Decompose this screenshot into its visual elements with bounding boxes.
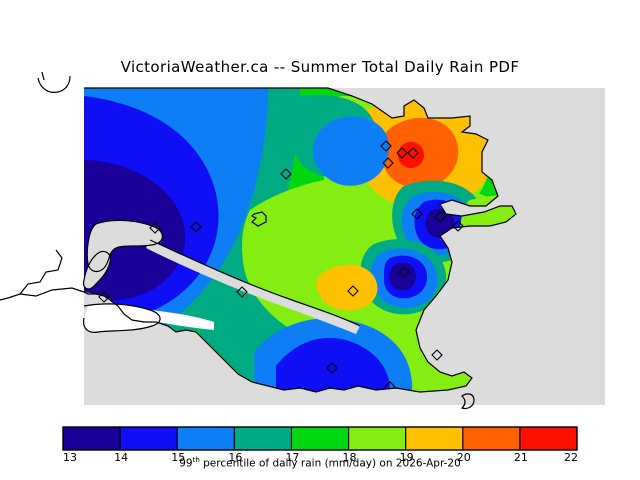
colorbar-band[interactable] <box>234 427 291 450</box>
colorbar-band[interactable] <box>63 427 120 450</box>
colorbar-band[interactable] <box>291 427 348 450</box>
weather-map-page: VictoriaWeather.ca -- Summer Total Daily… <box>0 0 640 480</box>
colorbar-caption: 99th percentile of daily rain (mm/day) o… <box>0 456 640 470</box>
caption-ordinal-suffix: th <box>193 456 200 464</box>
colorbar[interactable] <box>63 427 577 450</box>
caption-rest: percentile of daily rain (mm/day) on 202… <box>200 458 461 470</box>
colorbar-band[interactable] <box>406 427 463 450</box>
contour-minimum-north-central <box>314 121 388 186</box>
colorbar-band[interactable] <box>463 427 520 450</box>
page-title: VictoriaWeather.ca -- Summer Total Daily… <box>0 58 640 76</box>
colorbar-band[interactable] <box>349 427 406 450</box>
colorbar-band[interactable] <box>177 427 234 450</box>
colorbar-band[interactable] <box>120 427 177 450</box>
colorbar-band[interactable] <box>520 427 577 450</box>
caption-prefix: 99 <box>179 458 192 470</box>
